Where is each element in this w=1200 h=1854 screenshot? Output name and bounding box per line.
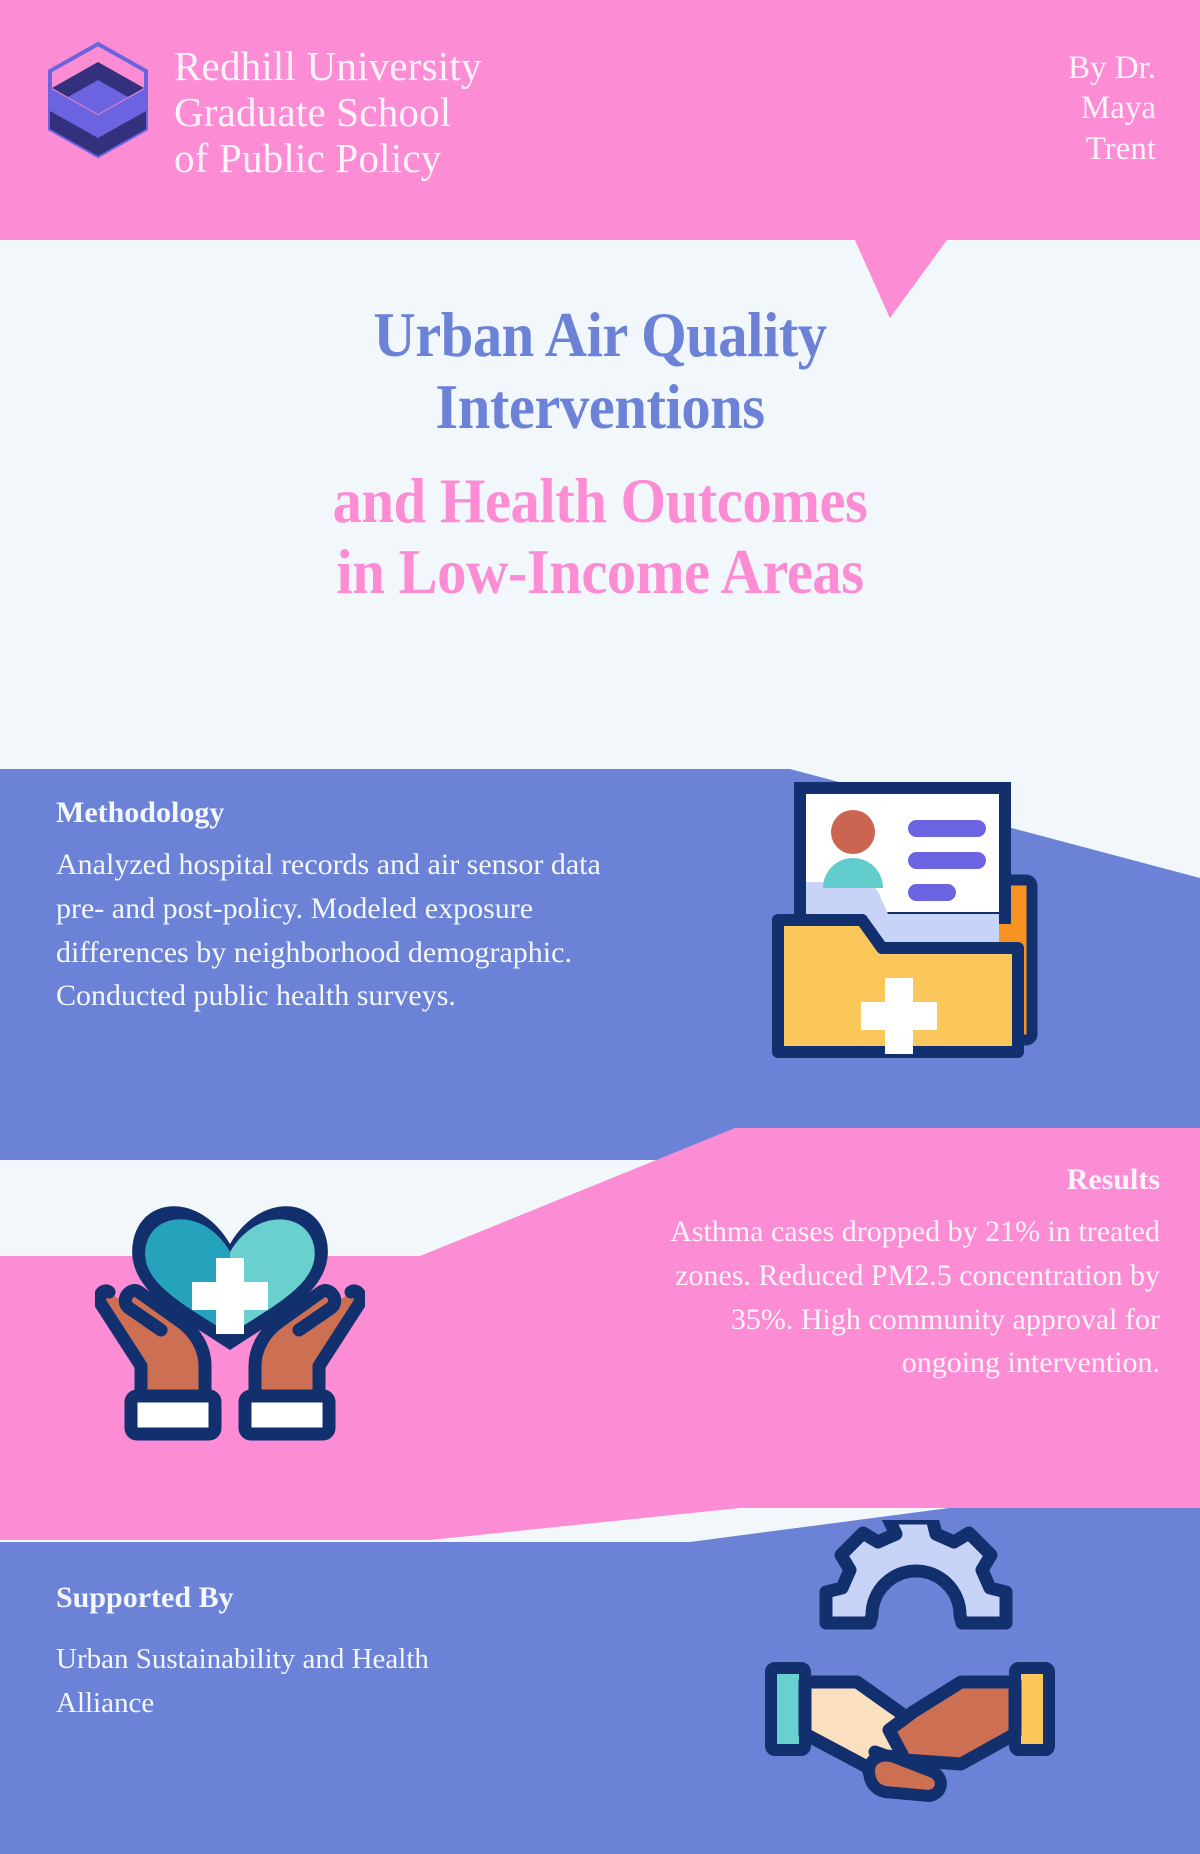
supported-by-body: Urban Sustainability and Health Alliance — [56, 1638, 526, 1725]
medical-records-folder-icon — [770, 770, 1050, 1070]
methodology-section: Methodology Analyzed hospital records an… — [56, 795, 616, 1018]
title-line-4: in Low-Income Areas — [42, 537, 1158, 609]
supported-by-heading: Supported By — [56, 1580, 526, 1616]
poster-title: Urban Air Quality Interventions and Heal… — [0, 300, 1200, 609]
results-heading: Results — [660, 1162, 1160, 1198]
author-byline: By Dr. Maya Trent — [1021, 38, 1156, 169]
layered-hexagon-stack-logo-icon — [44, 40, 152, 160]
results-body: Asthma cases dropped by 21% in treated z… — [660, 1210, 1160, 1385]
results-section: Results Asthma cases dropped by 21% in t… — [660, 1162, 1160, 1385]
institution-name: Redhill University Graduate School of Pu… — [174, 38, 482, 182]
handshake-gear-partnership-icon — [765, 1520, 1055, 1820]
methodology-body: Analyzed hospital records and air sensor… — [56, 843, 616, 1018]
title-line-3: and Health Outcomes — [42, 466, 1158, 538]
poster-canvas: Redhill University Graduate School of Pu… — [0, 0, 1200, 1854]
brand-lockup: Redhill University Graduate School of Pu… — [44, 38, 482, 182]
supported-by-section: Supported By Urban Sustainability and He… — [56, 1580, 526, 1725]
poster-header: Redhill University Graduate School of Pu… — [0, 0, 1200, 240]
title-line-1: Urban Air Quality — [42, 300, 1158, 372]
methodology-heading: Methodology — [56, 795, 616, 831]
title-line-2: Interventions — [42, 372, 1158, 444]
hands-holding-heart-icon — [95, 1160, 365, 1450]
